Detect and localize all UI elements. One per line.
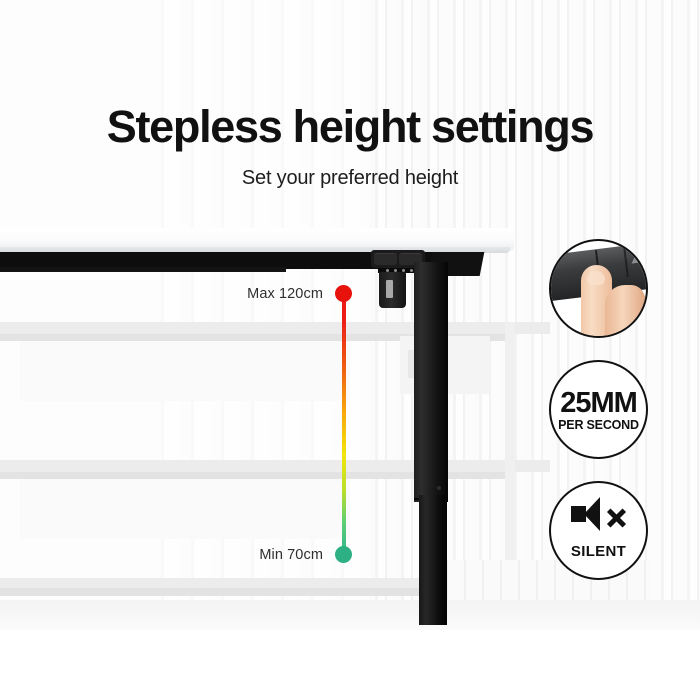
desk-leg-screw <box>437 486 441 490</box>
badge-touch-control <box>549 239 648 338</box>
min-height-marker-dot <box>335 546 352 563</box>
hand-knuckle-icon <box>605 285 645 338</box>
badge-speed: 25MM PER SECOND <box>549 360 648 459</box>
desk-leg-lower-column <box>419 495 447 625</box>
desk-frame-lip <box>0 267 286 272</box>
control-led-4 <box>410 269 413 272</box>
silent-label: SILENT <box>551 543 646 560</box>
page-subtitle: Set your preferred height <box>0 167 700 190</box>
mute-x-icon <box>605 507 627 529</box>
speed-value: 25MM <box>551 387 646 420</box>
fingernail-icon <box>587 271 605 285</box>
motor-sticker <box>386 280 393 298</box>
shelf-top-face <box>20 341 350 401</box>
shelf-mid-board <box>0 460 550 472</box>
height-range-gradient-bar <box>342 292 346 554</box>
speaker-cone-icon <box>584 497 600 531</box>
speed-unit-label: PER SECOND <box>551 418 646 432</box>
min-height-label: Min 70cm <box>150 547 323 563</box>
control-button-up <box>374 253 397 265</box>
badge-silent: SILENT <box>549 481 648 580</box>
shelf-top-board <box>0 322 550 334</box>
remote-up-arrow-icon <box>631 254 642 263</box>
shelf-bottom-edge <box>0 588 420 596</box>
desk-leg-upper-column <box>414 262 448 502</box>
max-height-label: Max 120cm <box>150 286 323 302</box>
page-title: Stepless height settings <box>0 104 700 149</box>
floor <box>0 600 700 630</box>
shelf-mid-face <box>20 479 350 539</box>
max-height-marker-dot <box>335 285 352 302</box>
product-feature-image: Stepless height settings Set your prefer… <box>0 0 700 700</box>
